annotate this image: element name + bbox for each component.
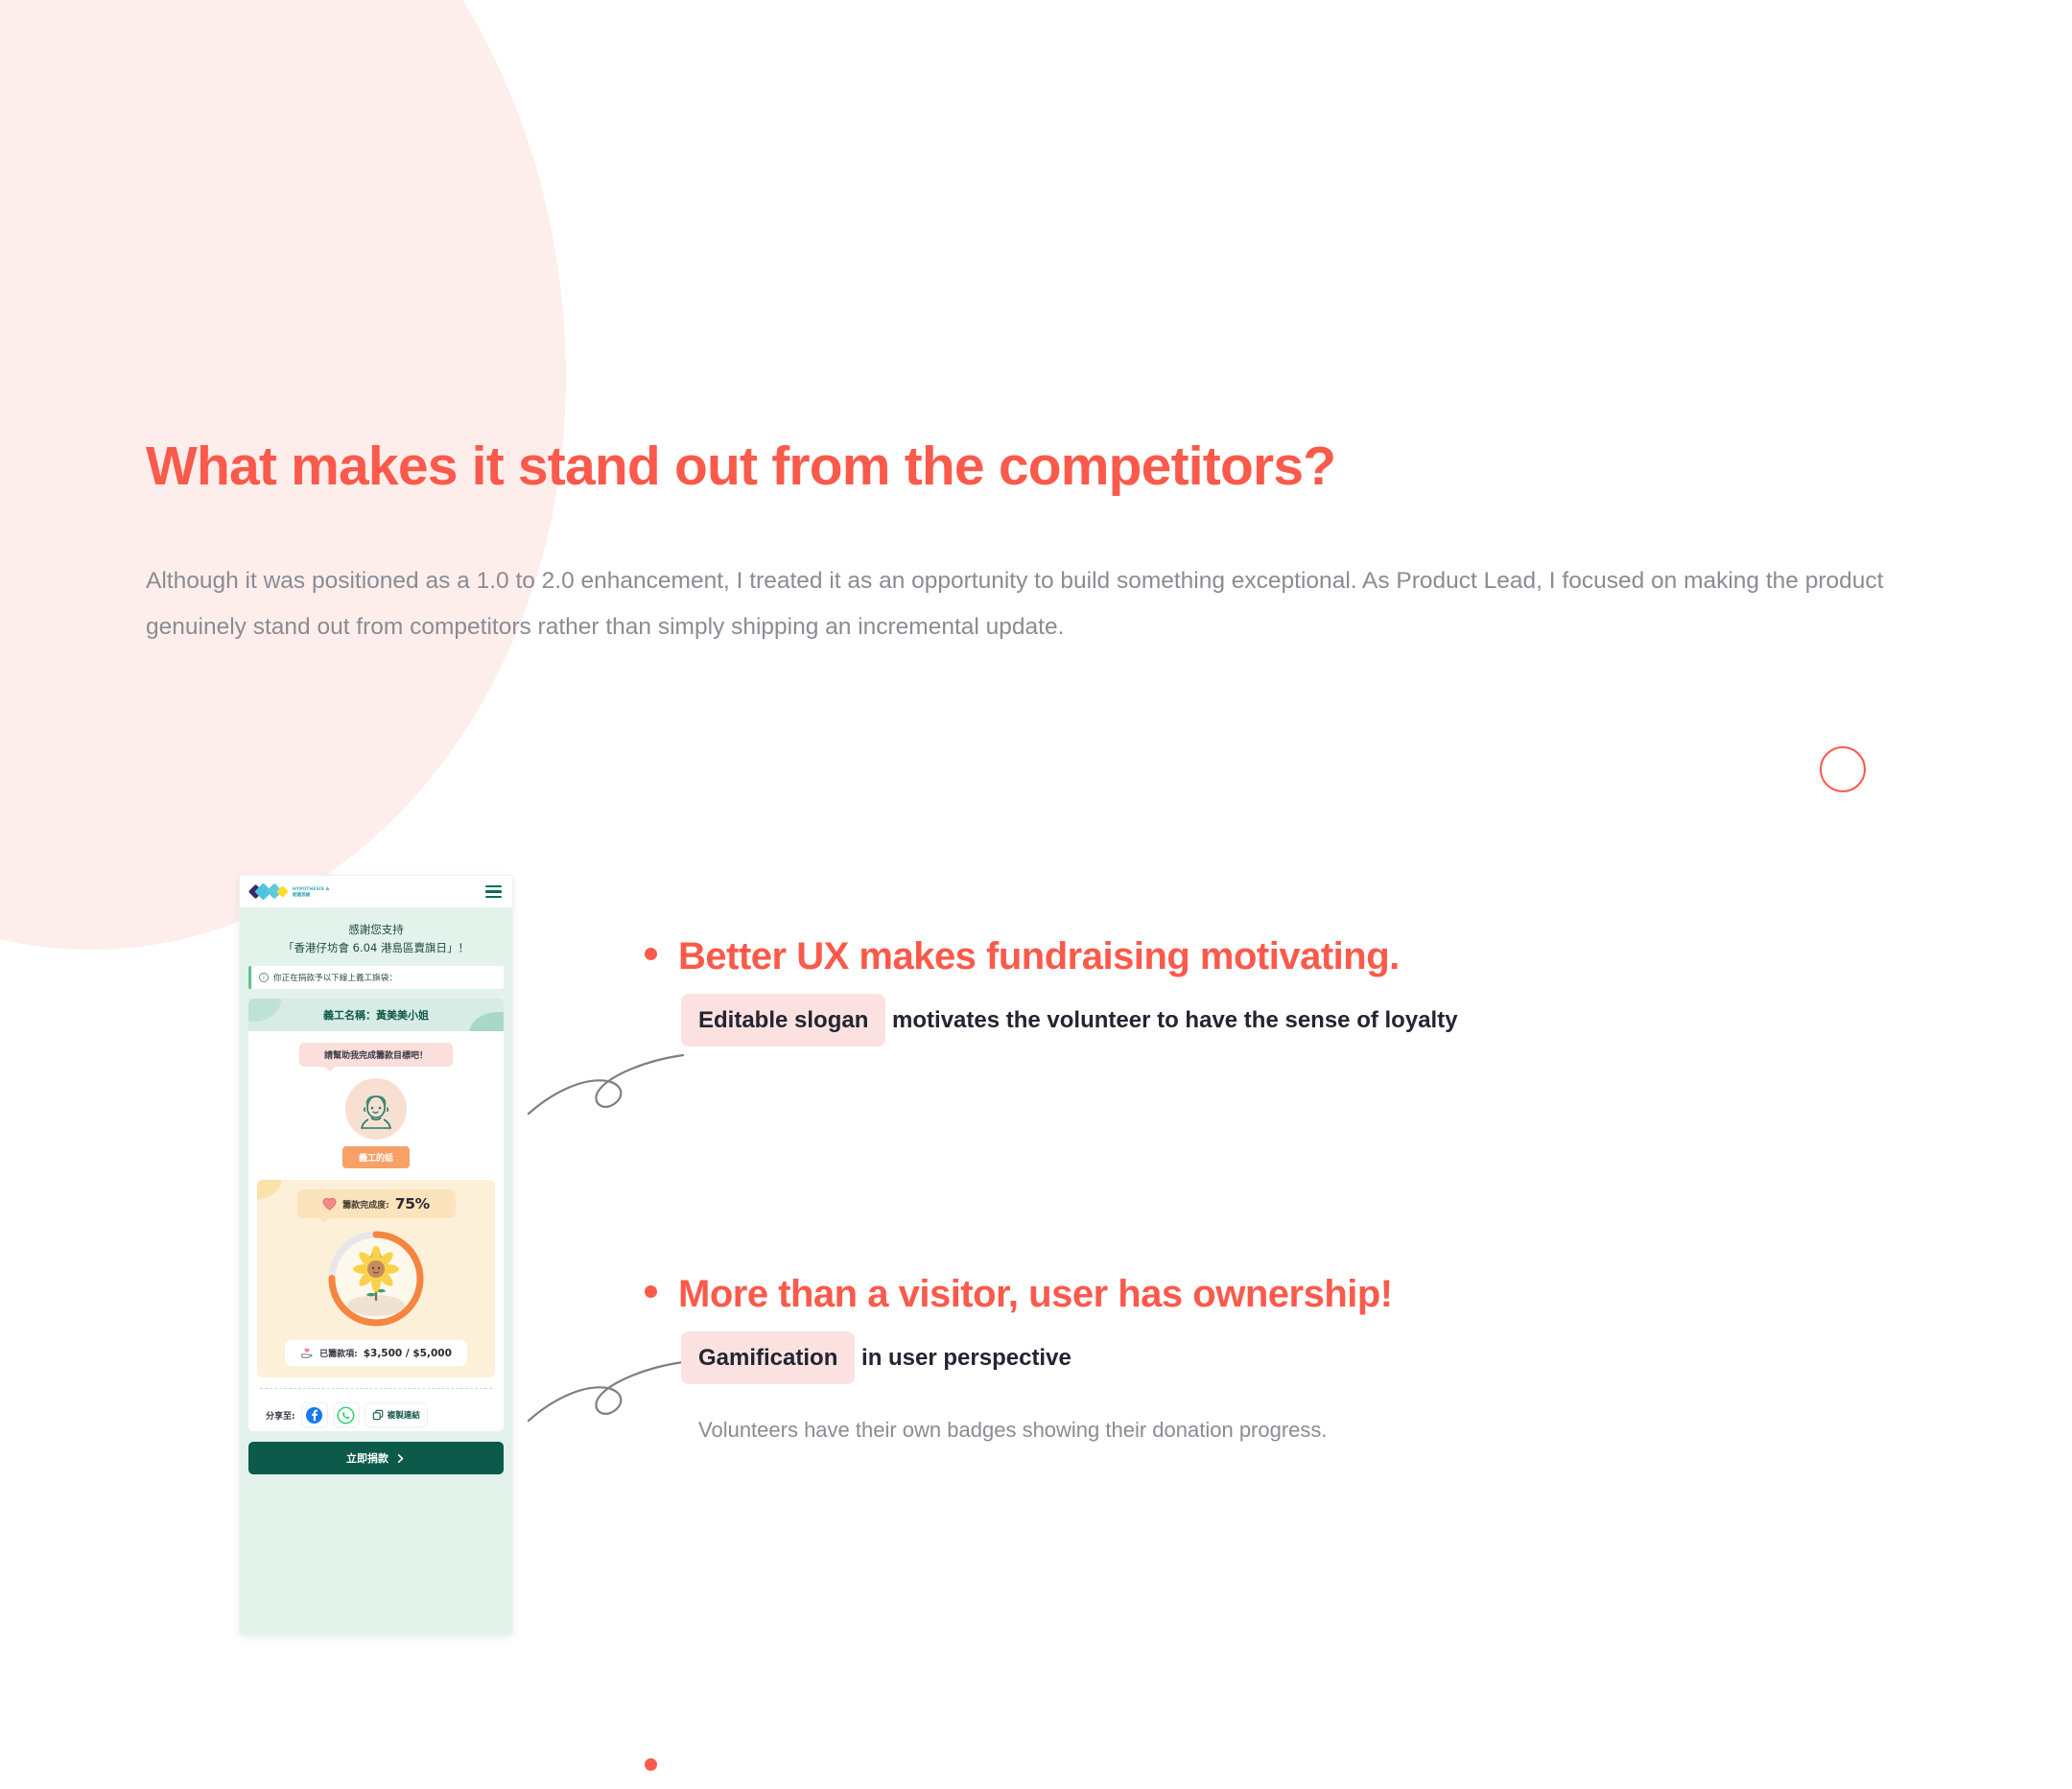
- logo-wordmark: HYPOTHESIS & 創建思維: [293, 886, 330, 898]
- whatsapp-icon[interactable]: [334, 1403, 359, 1426]
- divider: [260, 1388, 492, 1389]
- org-logo: HYPOTHESIS & 創建思維: [250, 883, 330, 900]
- circle-outline-decoration: [1820, 746, 1866, 792]
- phone-topbar: HYPOTHESIS & 創建思維: [240, 876, 512, 907]
- bullet-2-highlight: Gamification: [681, 1331, 855, 1384]
- logo-diamonds-icon: [250, 883, 289, 900]
- donation-hand-icon: [300, 1347, 314, 1359]
- progress-label: 籌款完成度:: [342, 1198, 389, 1211]
- bullet-2-heading-row: More than a visitor, user has ownership!: [645, 1273, 1393, 1316]
- bottom-dot-decoration: [645, 1758, 657, 1771]
- logo-line-2: 創建思維: [293, 892, 330, 898]
- logo-line-1: HYPOTHESIS &: [293, 886, 330, 891]
- bullet-dot-icon: [645, 948, 657, 960]
- amount-label: 已籌款項:: [319, 1347, 358, 1359]
- phone-mockup: HYPOTHESIS & 創建思維 感謝您支持 「香港仔坊會 6.04 港島區賣…: [239, 875, 513, 1636]
- bullet-1-heading-row: Better UX makes fundraising motivating.: [645, 935, 1458, 978]
- progress-percent: 75%: [395, 1195, 430, 1212]
- hamburger-icon[interactable]: [485, 885, 502, 898]
- bullet-1-highlight: Editable slogan: [681, 994, 885, 1047]
- progress-ring-container: [266, 1227, 486, 1330]
- info-icon: i: [259, 973, 269, 982]
- bullet-block-1: Better UX makes fundraising motivating. …: [645, 935, 1458, 1034]
- volunteer-card: 義工名稱：黃美美小姐 請幫助我完成籌款目標吧！: [248, 999, 504, 1431]
- chevron-right-icon: [395, 1453, 406, 1464]
- bullet-1-title: Better UX makes fundraising motivating.: [678, 935, 1400, 978]
- bullet-dot-icon: [645, 1285, 657, 1298]
- copy-link-label: 複製連結: [388, 1409, 420, 1421]
- copy-icon: [372, 1409, 384, 1421]
- bullet-block-2: More than a visitor, user has ownership!…: [645, 1273, 1393, 1443]
- bullet-1-subline: Editable slogan motivates the volunteer …: [698, 1007, 1458, 1034]
- thanks-line-2: 「香港仔坊會 6.04 港島區賣旗日」！: [247, 939, 505, 957]
- amount-value: $3,500 / $5,000: [364, 1348, 452, 1359]
- bullet-1-rest: motivates the volunteer to have the sens…: [885, 1007, 1457, 1033]
- volunteer-name: 義工名稱：黃美美小姐: [323, 1007, 429, 1023]
- volunteer-portrait-icon: [350, 1083, 402, 1135]
- volunteer-slogan[interactable]: 請幫助我完成籌款目標吧！: [299, 1043, 453, 1067]
- bullet-2-subline: Gamification in user perspective: [698, 1345, 1393, 1372]
- slide-canvas: What makes it stand out from the competi…: [0, 0, 2072, 1789]
- donate-now-button[interactable]: 立即捐款: [248, 1442, 504, 1474]
- thanks-line-1: 感謝您支持: [247, 921, 505, 939]
- info-banner: i 你正在捐款予以下線上義工旗袋：: [248, 966, 504, 989]
- thanks-heading: 感謝您支持 「香港仔坊會 6.04 港島區賣旗日」！: [240, 907, 512, 966]
- progress-bubble: 籌款完成度: 75%: [297, 1189, 456, 1218]
- phone-content: 感謝您支持 「香港仔坊會 6.04 港島區賣旗日」！ i 你正在捐款予以下線上義…: [240, 907, 512, 1636]
- donate-now-label: 立即捐款: [346, 1450, 388, 1466]
- page-subcopy: Although it was positioned as a 1.0 to 2…: [146, 558, 1942, 650]
- progress-panel: 籌款完成度: 75%: [257, 1180, 495, 1377]
- copy-link-button[interactable]: 複製連結: [365, 1403, 427, 1426]
- bullet-2-title: More than a visitor, user has ownership!: [678, 1273, 1393, 1316]
- facebook-icon[interactable]: [302, 1403, 327, 1426]
- squiggle-connector-1: [526, 1039, 691, 1136]
- share-row: 分享至:: [257, 1399, 495, 1431]
- bullet-2-rest: in user perspective: [855, 1345, 1071, 1371]
- volunteer-card-header: 義工名稱：黃美美小姐: [248, 999, 504, 1031]
- info-banner-text: 你正在捐款予以下線上義工旗袋：: [273, 972, 397, 983]
- share-label: 分享至:: [266, 1409, 295, 1422]
- amount-row: 已籌款項: $3,500 / $5,000: [285, 1340, 467, 1366]
- avatar-container: [248, 1078, 504, 1140]
- progress-ring: [324, 1227, 428, 1330]
- bullet-2-note: Volunteers have their own badges showing…: [698, 1418, 1393, 1443]
- volunteer-message-badge[interactable]: 義工的話: [342, 1146, 410, 1168]
- heart-icon: [322, 1197, 337, 1211]
- page-title: What makes it stand out from the competi…: [146, 435, 1335, 498]
- avatar: [345, 1078, 407, 1140]
